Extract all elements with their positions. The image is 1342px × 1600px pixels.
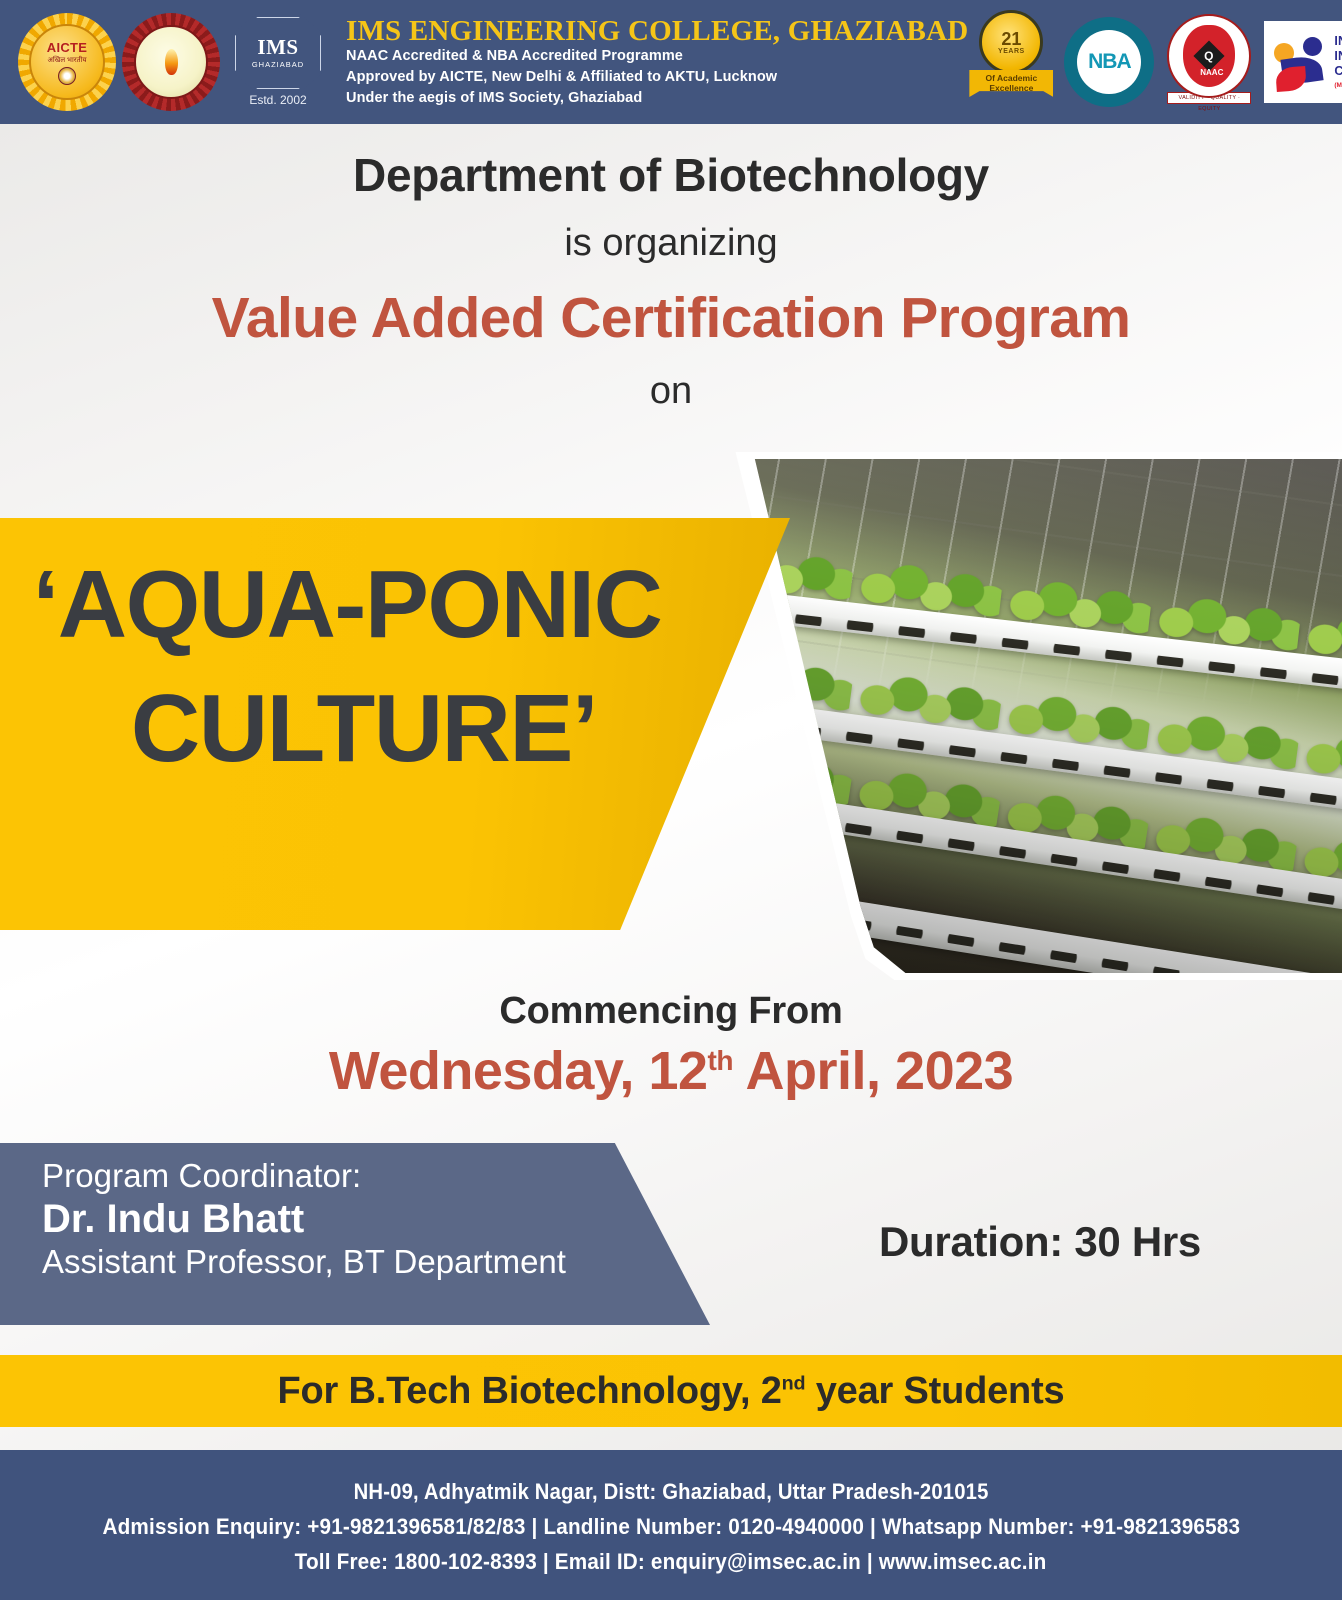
footer-address: NH-09, Adhyatmik Nagar, Distt: Ghaziabad… [354,1479,989,1505]
audience-label: For B.Tech Biotechnology, 2nd year Stude… [278,1370,1065,1413]
iic-logo-icon: INSTITUTION'S INNOVATION COUNCIL (Minist… [1264,21,1342,103]
nba-mark-label: NBA [1077,30,1141,94]
on-label: on [0,370,1342,413]
organizing-label: is organizing [0,222,1342,265]
aicte-logo-icon: AICTE अखिल भारतीय [18,13,116,111]
nba-logo-icon: NBA [1064,17,1154,107]
anniversary-ribbon-label: Of Academic Excellence [969,70,1053,97]
iic-line-2: INNOVATION [1334,49,1342,64]
topic-title-line-2: CULTURE’ [28,682,700,776]
coordinator-block: Program Coordinator: Dr. Indu Bhatt Assi… [0,1143,710,1325]
naac-label: NAAC [1200,68,1223,77]
audience-strip: For B.Tech Biotechnology, 2nd year Stude… [0,1355,1342,1427]
poster-root: AICTE अखिल भारतीय IMS GHAZIABAD Estd. 20… [0,0,1342,1600]
aktu-flame-icon [165,49,178,75]
department-title: Department of Biotechnology [0,148,1342,202]
header-left-logos: AICTE अखिल भारतीय IMS GHAZIABAD Estd. 20… [0,13,330,111]
anniversary-years-label: YEARS [998,48,1025,55]
commencing-date: Wednesday, 12th April, 2023 [0,1040,1342,1102]
poster-footer: NH-09, Adhyatmik Nagar, Distt: Ghaziabad… [0,1450,1342,1600]
date-month-year: April, 2023 [733,1041,1013,1101]
audience-year-ordinal: nd [782,1372,806,1394]
footer-contacts: Admission Enquiry: +91-9821396581/82/83 … [102,1514,1240,1540]
iic-mark-icon [1272,33,1326,91]
header-society-line: Under the aegis of IMS Society, Ghaziaba… [346,88,968,109]
commencing-label: Commencing From [0,990,1342,1033]
iic-line-1: INSTITUTION'S [1334,34,1342,49]
aktu-logo-icon [122,13,220,111]
coordinator-name: Dr. Indu Bhatt [42,1197,710,1242]
duration-label: Duration: 30 Hrs [760,1218,1320,1266]
ims-city-label: GHAZIABAD [252,60,304,69]
header-approval-line: Approved by AICTE, New Delhi & Affiliate… [346,67,968,88]
audience-year-number: 2 [761,1370,782,1412]
coordinator-designation: Assistant Professor, BT Department [42,1243,710,1281]
iic-line-3: COUNCIL [1334,64,1342,79]
poster-header: AICTE अखिल भारतीय IMS GHAZIABAD Estd. 20… [0,0,1342,124]
date-number: 12 [648,1041,707,1101]
iic-ministry-note: (Ministry of Education Initiative) [1334,82,1342,90]
audience-prefix: For B.Tech Biotechnology, [278,1370,761,1412]
institution-title: IMS ENGINEERING COLLEGE, GHAZIABAD [346,16,968,46]
topic-title: ‘AQUA-PONIC CULTURE’ [0,558,700,776]
program-type-title: Value Added Certification Program [0,285,1342,351]
aicte-lamp-icon [58,67,76,85]
aicte-label: AICTE [47,40,88,55]
anniversary-badge-icon: 21 YEARS Of Academic Excellence [968,10,1054,114]
date-day: Wednesday, [329,1041,649,1101]
topic-title-line-1: ‘AQUA-PONIC [0,558,700,652]
header-text-block: IMS ENGINEERING COLLEGE, GHAZIABAD NAAC … [346,16,968,108]
footer-tollfree-email: Toll Free: 1800-102-8393 | Email ID: enq… [295,1549,1047,1575]
ims-estd-label: Estd. 2002 [249,93,306,107]
audience-suffix: year Students [805,1370,1064,1412]
date-ordinal: th [708,1045,734,1076]
coordinator-label: Program Coordinator: [42,1157,710,1195]
header-right-logos: 21 YEARS Of Academic Excellence NBA Q NA… [968,10,1342,114]
ims-mark-label: IMS [252,37,304,58]
naac-logo-icon: Q NAAC VALIDITY · QUALITY · EQUITY [1164,14,1254,110]
anniversary-number: 21 [1001,30,1021,48]
naac-quality-mark: Q [1205,49,1214,63]
header-accreditation-line: NAAC Accredited & NBA Accredited Program… [346,46,968,67]
aicte-sub-label: अखिल भारतीय [47,56,86,65]
ims-logo-icon: IMS GHAZIABAD Estd. 2002 [226,14,330,110]
